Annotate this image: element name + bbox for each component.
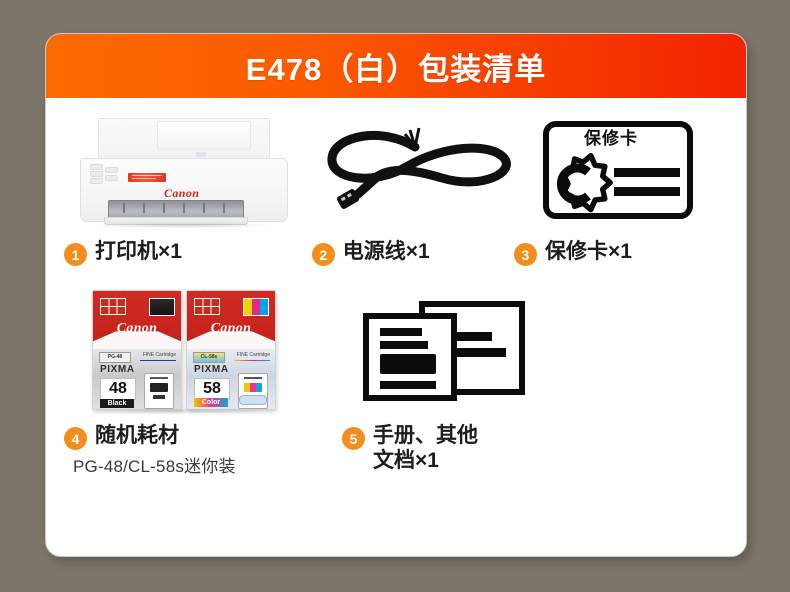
power-cable-photo [322,114,517,226]
printer-brand-logo: Canon [164,186,199,201]
ink-swatch-color [243,298,269,316]
ink-grid-mark [194,298,220,315]
ink-number-color: 58 [194,378,230,400]
item-badge-3: 3 [514,243,537,266]
item-warranty-card: 保修卡 3 保修卡×1 [510,98,746,266]
item-name-power-cable: 电源线×1 [343,240,430,263]
ink-grid-mark [100,298,126,315]
item-label-power-cable: 2 电源线×1 [312,240,510,266]
ink-top-color: Canon [187,291,275,349]
documents-art [342,290,582,416]
printer-button [90,178,103,184]
items-row-1: Canon [46,98,746,266]
ink-type-color: Color [194,398,228,407]
item-label-printer: 1 打印机×1 [64,240,306,266]
screenshot-stage: E478（白）包装清单 [0,0,790,592]
items-row-2: Canon PG-48 FINE Cartridge PIXMA 48 [46,290,746,477]
cable-art [312,110,510,230]
ink-swatch-black [149,298,175,316]
ink-cartridge-color: Canon CL-58s FINE Cartridge PIXMA 58 [186,290,276,410]
printer-art: Canon [64,110,306,230]
item-power-cable: 2 电源线×1 [306,98,510,266]
printer-red-accent [128,173,166,182]
item-documents: 5 手册、其他 文档×1 [336,290,582,477]
ink-strip-right-color: FINE Cartridge [234,352,270,361]
item-ink-cartridges: Canon PG-48 FINE Cartridge PIXMA 48 [46,290,336,477]
item-label-ink: 4 随机耗材 PG-48/CL-58s迷你装 [64,424,336,477]
documents-icon [356,296,546,416]
ink-strip-left-black: PG-48 [99,352,131,363]
warranty-art: 保修卡 [514,110,746,230]
printer-button [90,171,103,177]
item-label-warranty-card: 3 保修卡×1 [514,240,746,266]
ink-series-black: PIXMA [100,364,135,375]
ink-product-image-black [144,373,174,409]
ink-strip-right-text-black: FINE Cartridge [143,352,176,358]
ink-strip-right-black: FINE Cartridge [140,352,176,361]
package-list-card: E478（白）包装清单 [45,33,747,557]
ink-cartridge-black: Canon PG-48 FINE Cartridge PIXMA 48 [92,290,182,410]
ink-brand-color: Canon [187,321,275,337]
warranty-card-label: 保修卡 [584,124,638,149]
item-printer: Canon [46,98,306,266]
printer-scanner-dot [196,152,206,157]
item-name-documents: 手册、其他 文档×1 [373,424,478,472]
item-badge-2: 2 [312,243,335,266]
ink-series-color: PIXMA [194,364,229,375]
printer-lid-plate [157,121,251,150]
item-label-documents: 5 手册、其他 文档×1 [342,424,582,474]
printer-button [90,164,103,170]
item-name-printer: 打印机×1 [95,240,182,263]
printer-button [105,167,118,173]
item-name-warranty-card: 保修卡×1 [545,240,632,263]
ink-type-black: Black [100,399,134,408]
printer-shadow [90,223,276,228]
ink-strip-right-text-color: FINE Cartridge [237,352,270,358]
ink-strip-left-color: CL-58s [193,352,225,363]
ink-art: Canon PG-48 FINE Cartridge PIXMA 48 [86,290,336,416]
page-title: E478（白）包装清单 [246,44,546,89]
card-body: Canon [46,98,746,556]
ink-top-black: Canon [93,291,181,349]
ink-badge-color [239,395,267,405]
item-badge-1: 1 [64,243,87,266]
ink-shadow [92,408,274,414]
item-badge-5: 5 [342,427,365,450]
ink-brand-black: Canon [93,321,181,337]
ink-number-black: 48 [100,378,136,400]
item-badge-4: 4 [64,427,87,450]
item-name-ink: 随机耗材 [95,424,179,447]
printer-photo: Canon [80,118,286,230]
printer-button [105,175,118,181]
card-header: E478（白）包装清单 [46,34,746,98]
ink-bottom-color: CL-58s FINE Cartridge PIXMA 58 Color S [187,349,275,409]
item-sub-ink: PG-48/CL-58s迷你装 [73,452,236,477]
ink-bottom-black: PG-48 FINE Cartridge PIXMA 48 Black [93,349,181,409]
printer-control-panel [90,164,132,186]
